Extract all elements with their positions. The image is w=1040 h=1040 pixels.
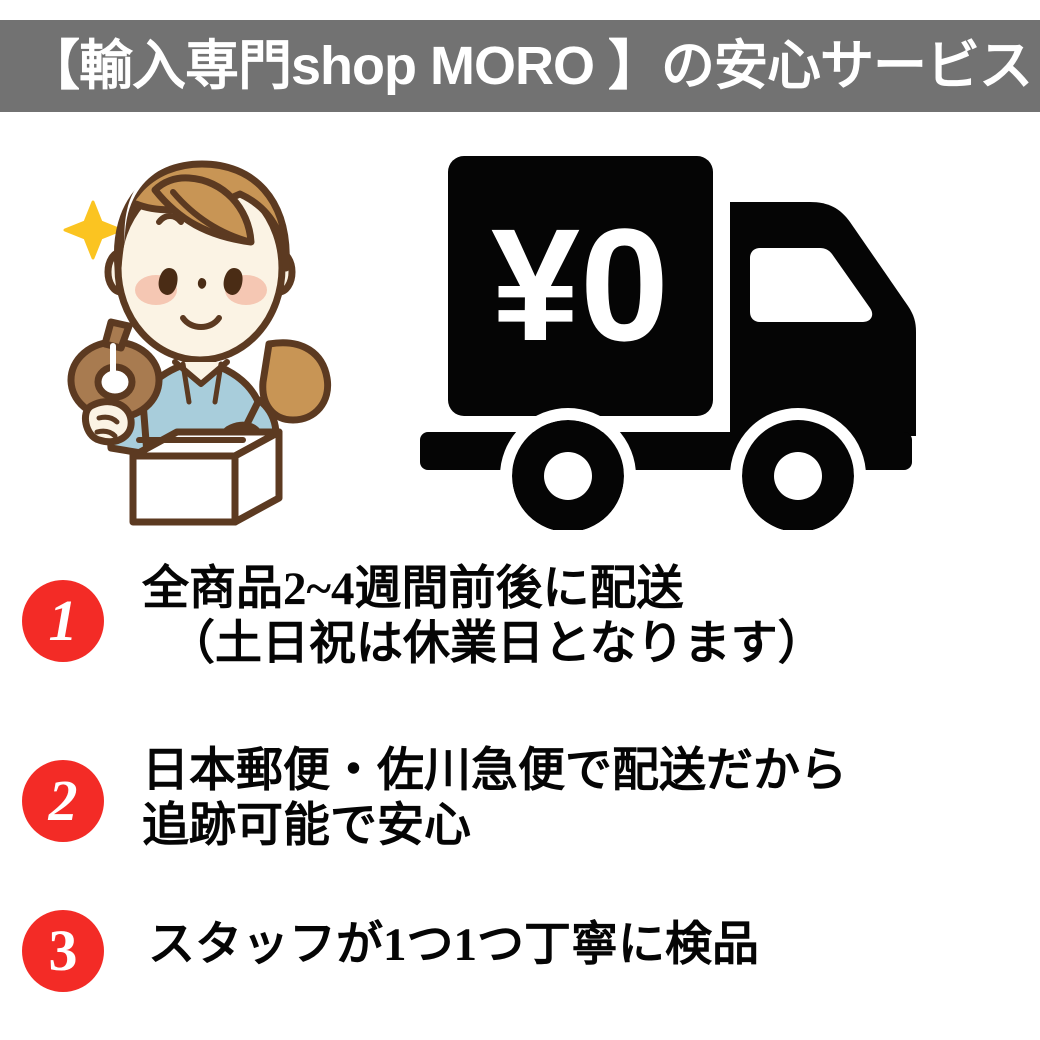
- service-list-item-3: 3 スタッフが1つ1つ丁寧に検品: [0, 898, 1040, 1008]
- service-item-2-line-2: 追跡可能で安心: [142, 799, 847, 854]
- service-number-badge-2: 2: [22, 760, 104, 842]
- truck-rear-hub: [544, 452, 592, 500]
- service-list-item-1: 1 全商品2~4週間前後に配送 （土日祝は休業日となります）: [0, 548, 1040, 728]
- illustration-area: ¥0: [0, 130, 1040, 530]
- woman-packing-box-illustration: [55, 150, 395, 530]
- service-item-1-line-2: （土日祝は休業日となります）: [142, 617, 825, 672]
- service-item-1-line-1: 全商品2~4週間前後に配送: [142, 562, 825, 617]
- truck-cargo-label: ¥0: [491, 195, 669, 374]
- header-banner-title: 【輸入専門shop MORO 】の安心サービス: [0, 39, 1032, 93]
- service-item-2-line-1: 日本郵便・佐川急便で配送だから: [142, 744, 847, 799]
- service-item-3-text: スタッフが1つ1つ丁寧に検品: [148, 918, 759, 973]
- truck-front-hub: [774, 452, 822, 500]
- service-number-badge-3: 3: [22, 910, 104, 992]
- header-banner: 【輸入専門shop MORO 】の安心サービス: [0, 20, 1040, 112]
- service-item-2-text: 日本郵便・佐川急便で配送だから 追跡可能で安心: [142, 744, 847, 853]
- service-item-3-line-1: スタッフが1つ1つ丁寧に検品: [148, 918, 759, 973]
- service-item-1-text: 全商品2~4週間前後に配送 （土日祝は休業日となります）: [142, 562, 825, 671]
- sparkle-icon: [65, 202, 121, 258]
- promo-banner-page: 【輸入専門shop MORO 】の安心サービス: [0, 0, 1040, 1040]
- delivery-truck-icon: ¥0: [420, 150, 1000, 530]
- service-number-badge-1: 1: [22, 580, 104, 662]
- service-list-item-2: 2 日本郵便・佐川急便で配送だから 追跡可能で安心: [0, 744, 1040, 904]
